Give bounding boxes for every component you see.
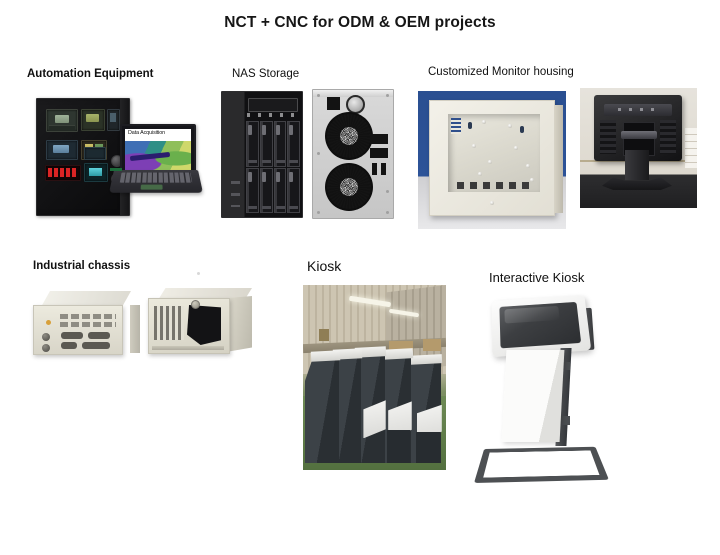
laptop-trackpad bbox=[141, 185, 163, 190]
kiosk-lower-panel bbox=[387, 430, 410, 463]
monitor-housing-image bbox=[418, 91, 566, 229]
chassis-expansion-slots-row-2 bbox=[60, 322, 116, 327]
nas-status-leds bbox=[247, 113, 297, 117]
drive-bay bbox=[260, 121, 273, 167]
kiosk-top-panel bbox=[408, 354, 443, 365]
kiosk-row bbox=[305, 345, 445, 463]
automation-equipment-image: Data Acquisition bbox=[28, 92, 198, 220]
housing-stud bbox=[472, 144, 476, 148]
controller-display-4 bbox=[46, 140, 78, 160]
page-title: NCT + CNC for ODM & OEM projects bbox=[0, 14, 720, 32]
section-label-kiosk: Kiosk bbox=[307, 258, 341, 274]
housing-connector-slots bbox=[457, 182, 535, 189]
drive-bay bbox=[274, 121, 287, 167]
drive-bay bbox=[287, 168, 300, 214]
chassis-ps2-port-2 bbox=[42, 344, 50, 352]
rackmount-front-face bbox=[148, 298, 230, 354]
housing-stud bbox=[482, 120, 486, 124]
nas-io-port-4 bbox=[372, 163, 377, 175]
led-readout-red bbox=[45, 165, 81, 181]
wall-panel-box bbox=[319, 329, 329, 341]
section-label-nas-storage: NAS Storage bbox=[232, 68, 299, 80]
screw bbox=[386, 211, 389, 214]
chassis-expansion-slots-row-1 bbox=[60, 314, 116, 319]
controller-display-2 bbox=[81, 109, 105, 131]
rackmount-drive-bay bbox=[187, 305, 221, 345]
section-label-industrial-chassis: Industrial chassis bbox=[33, 260, 130, 272]
nas-storage-image bbox=[214, 88, 398, 218]
screw bbox=[386, 190, 389, 193]
slide-canvas: NCT + CNC for ODM & OEM projects Automat… bbox=[0, 0, 720, 555]
image-artifact-dot bbox=[197, 272, 200, 275]
monitor-top-strip bbox=[604, 104, 672, 116]
housing-stud bbox=[488, 160, 492, 164]
drive-bay bbox=[246, 168, 259, 214]
screw bbox=[317, 94, 320, 97]
chassis-ps2-port-1 bbox=[42, 333, 50, 341]
section-label-automation-equipment: Automation Equipment bbox=[27, 68, 154, 80]
monitor-vent-left bbox=[600, 120, 616, 154]
nas-front-view bbox=[221, 91, 303, 218]
monitor-vent-right bbox=[660, 120, 676, 154]
industrial-chassis-image bbox=[30, 284, 255, 376]
laptop-screen-graphic bbox=[125, 141, 191, 170]
nas-optical-slot bbox=[248, 98, 298, 112]
housing-bolt bbox=[520, 126, 524, 133]
housing-bolt bbox=[468, 122, 472, 129]
kiosk-top-panel bbox=[311, 350, 341, 361]
interactive-kiosk-unit bbox=[466, 294, 614, 480]
nas-rear-view bbox=[312, 89, 394, 219]
chassis-vga-port bbox=[88, 332, 110, 339]
nas-fan-grille-upper bbox=[325, 112, 373, 160]
chassis-indicator-led bbox=[46, 320, 51, 325]
drive-bay bbox=[260, 168, 273, 214]
screw bbox=[386, 94, 389, 97]
housing-cavity bbox=[448, 114, 540, 192]
nas-io-port-2 bbox=[370, 148, 388, 158]
chassis-parallel-port bbox=[82, 342, 110, 349]
section-label-interactive-kiosk: Interactive Kiosk bbox=[489, 270, 584, 285]
laptop-base bbox=[109, 170, 203, 193]
chassis-rear-face bbox=[33, 305, 123, 355]
connection-cable bbox=[110, 168, 122, 171]
monitor-rear-image bbox=[580, 88, 697, 208]
rackmount-key-lock bbox=[191, 300, 200, 309]
laptop-screen-titlebar: Data Acquisition bbox=[125, 129, 191, 141]
laptop-screen-title: Data Acquisition bbox=[128, 130, 165, 136]
nas-io-port-1 bbox=[370, 134, 388, 144]
laptop-lid: Data Acquisition bbox=[120, 124, 196, 176]
monitor-housing-enclosure bbox=[429, 100, 555, 216]
chassis-side-panel bbox=[130, 305, 140, 353]
housing-front-stud bbox=[490, 201, 494, 205]
chassis-serial-port bbox=[61, 332, 83, 339]
kiosk-cabinet-body bbox=[305, 355, 339, 463]
monitor-stand-neck bbox=[625, 150, 649, 180]
housing-stud bbox=[508, 124, 512, 128]
monitor-stand-hinge bbox=[621, 131, 657, 139]
drive-bay bbox=[246, 121, 259, 167]
nas-io-port-3 bbox=[381, 163, 386, 175]
drive-bay bbox=[274, 168, 287, 214]
controller-display-7 bbox=[84, 163, 108, 182]
housing-stud bbox=[478, 172, 482, 176]
laptop-keyboard bbox=[120, 173, 192, 183]
industrial-chassis-rear-io bbox=[33, 291, 131, 353]
nas-side-indicators bbox=[231, 181, 240, 207]
kiosk-base-frame bbox=[474, 447, 609, 483]
rackmount-bottom-trim bbox=[152, 346, 224, 350]
nas-fan-grille-lower bbox=[325, 163, 373, 211]
chassis-usb-port bbox=[61, 342, 77, 349]
screw bbox=[317, 152, 320, 155]
controller-display-6 bbox=[84, 147, 106, 160]
kiosk-lower-panel bbox=[416, 432, 440, 463]
nas-drive-bays bbox=[246, 121, 300, 213]
rackmount-vent-grille bbox=[154, 306, 184, 340]
kiosk-unit bbox=[305, 355, 339, 463]
housing-vent-slots bbox=[451, 118, 461, 134]
background-papers bbox=[685, 128, 697, 168]
drive-bay bbox=[287, 121, 300, 167]
data-acquisition-laptop: Data Acquisition bbox=[114, 124, 198, 198]
laptop-screen: Data Acquisition bbox=[125, 129, 191, 171]
kiosk-production-row-photo bbox=[303, 285, 446, 470]
kiosk-touch-screen bbox=[499, 302, 581, 349]
nas-power-switch bbox=[327, 97, 340, 110]
housing-stud bbox=[514, 146, 518, 150]
section-label-customized-monitor-housing: Customized Monitor housing bbox=[428, 66, 574, 78]
housing-stud bbox=[526, 164, 530, 168]
industrial-rackmount-chassis bbox=[148, 288, 252, 356]
controller-display-1 bbox=[46, 109, 78, 132]
kiosk-display-head bbox=[491, 295, 591, 357]
kiosk-pedestal-column bbox=[502, 350, 565, 442]
screw bbox=[317, 211, 320, 214]
